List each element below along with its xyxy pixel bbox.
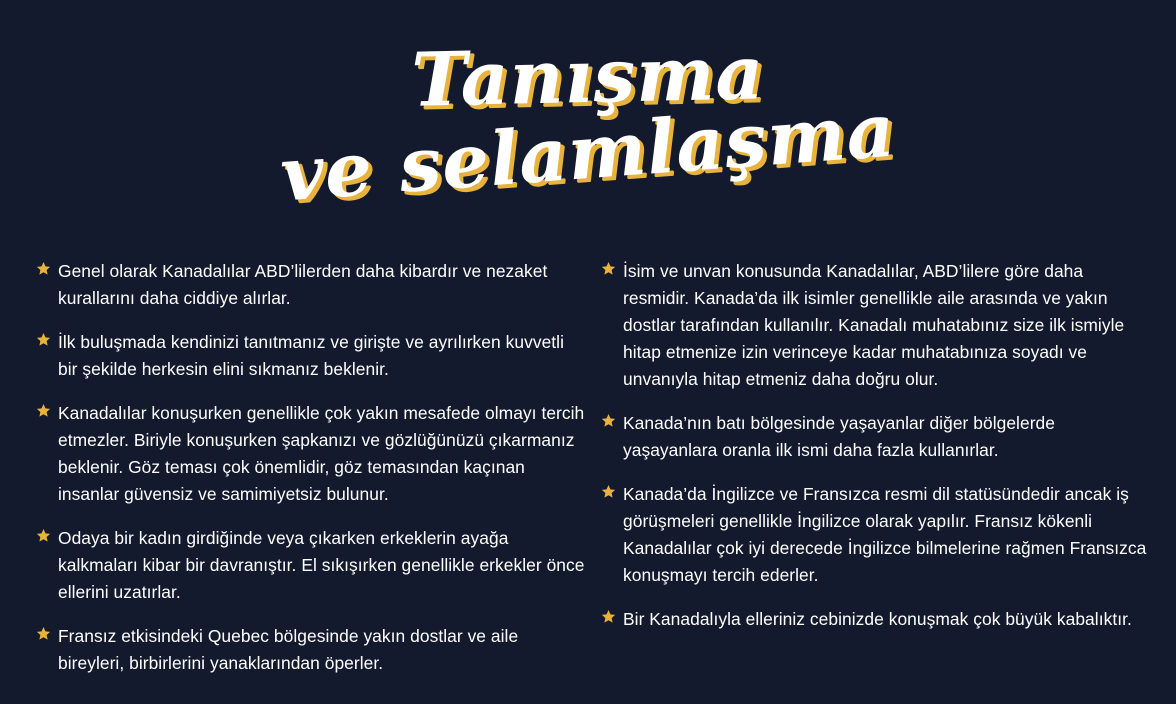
- list-item-text: Kanadalılar konuşurken genellikle çok ya…: [58, 400, 586, 508]
- page-title-line-1: Tanışma: [411, 30, 765, 123]
- star-icon: [36, 626, 58, 641]
- list-item-text: Kanada’da İngilizce ve Fransızca resmi d…: [623, 481, 1154, 589]
- list-item-text: İsim ve unvan konusunda Kanadalılar, ABD…: [623, 258, 1154, 393]
- list-item-text: Kanada’nın batı bölgesinde yaşayanlar di…: [623, 410, 1154, 464]
- star-icon: [601, 484, 623, 499]
- list-item: Kanadalılar konuşurken genellikle çok ya…: [36, 400, 586, 508]
- list-item-text: Fransız etkisindeki Quebec bölgesinde ya…: [58, 623, 586, 677]
- list-item: Odaya bir kadın girdiğinde veya çıkarken…: [36, 525, 586, 606]
- list-item: Kanada’da İngilizce ve Fransızca resmi d…: [601, 481, 1154, 589]
- page-title-line-2: ve selamlaşma: [278, 88, 899, 219]
- star-icon: [36, 403, 58, 418]
- star-icon: [601, 413, 623, 428]
- content-columns: Genel olarak Kanadalılar ABD’lilerden da…: [0, 258, 1176, 694]
- list-item: Fransız etkisindeki Quebec bölgesinde ya…: [36, 623, 586, 677]
- list-item: İsim ve unvan konusunda Kanadalılar, ABD…: [601, 258, 1154, 393]
- star-icon: [36, 332, 58, 347]
- list-item: Genel olarak Kanadalılar ABD’lilerden da…: [36, 258, 586, 312]
- list-item-text: Bir Kanadalıyla elleriniz cebinizde konu…: [623, 606, 1154, 633]
- page-title: Tanışma ve selamlaşma: [0, 0, 1176, 236]
- right-column: İsim ve unvan konusunda Kanadalılar, ABD…: [596, 258, 1176, 694]
- star-icon: [601, 609, 623, 624]
- star-icon: [36, 261, 58, 276]
- left-column: Genel olarak Kanadalılar ABD’lilerden da…: [0, 258, 596, 694]
- star-icon: [601, 261, 623, 276]
- list-item-text: Odaya bir kadın girdiğinde veya çıkarken…: [58, 525, 586, 606]
- list-item: İlk buluşmada kendinizi tanıtmanız ve gi…: [36, 329, 586, 383]
- list-item: Kanada’nın batı bölgesinde yaşayanlar di…: [601, 410, 1154, 464]
- list-item-text: Genel olarak Kanadalılar ABD’lilerden da…: [58, 258, 586, 312]
- star-icon: [36, 528, 58, 543]
- list-item-text: İlk buluşmada kendinizi tanıtmanız ve gi…: [58, 329, 586, 383]
- list-item: Bir Kanadalıyla elleriniz cebinizde konu…: [601, 606, 1154, 633]
